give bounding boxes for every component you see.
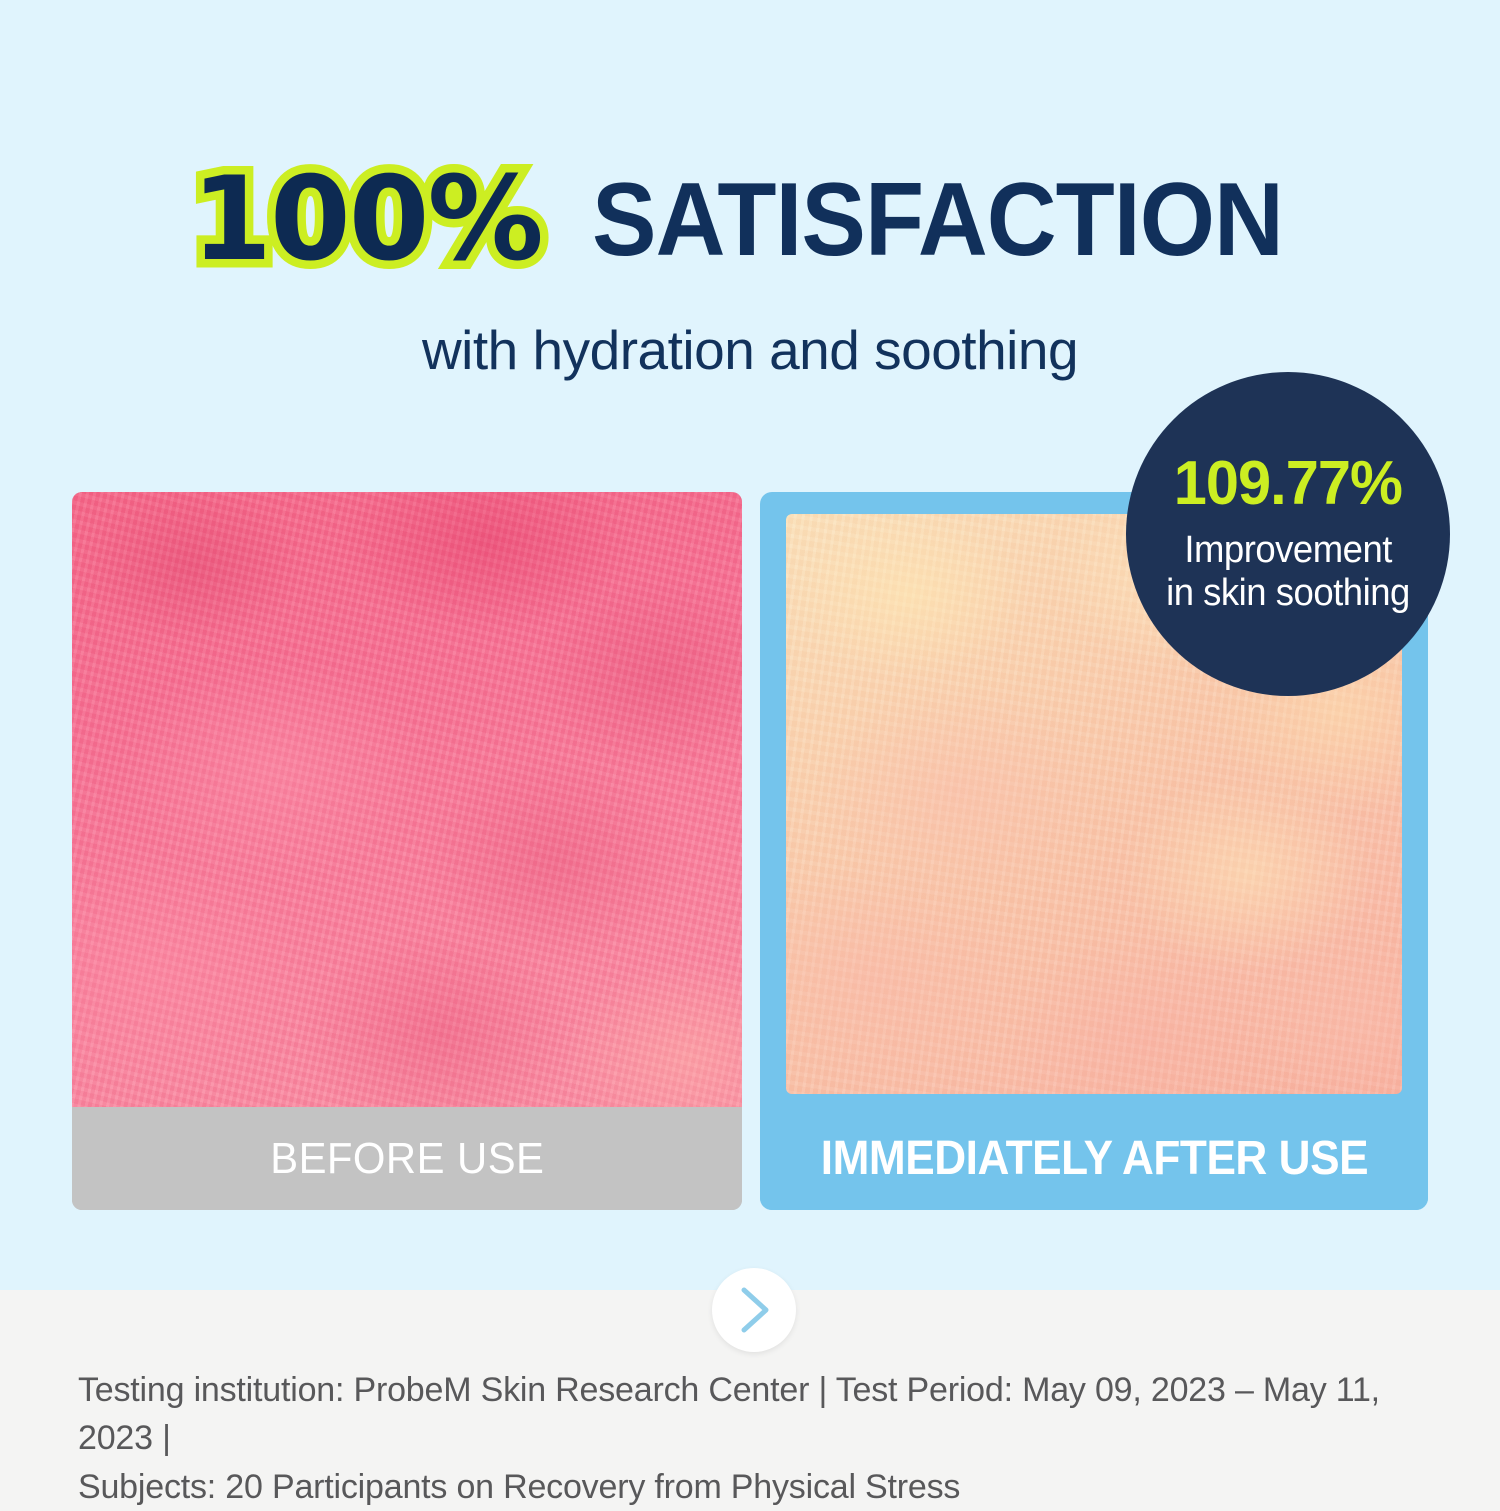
footer-text: Testing institution: ProbeM Skin Researc… [78,1366,1428,1511]
footer-line-1: Testing institution: ProbeM Skin Researc… [78,1366,1428,1463]
chevron-right-icon [712,1268,796,1352]
after-label-text: IMMEDIATELY AFTER USE [820,1131,1367,1186]
badge-caption-line-1: Improvement [1184,529,1392,572]
hero-stage: 100%SATISFACTION with hydration and soot… [0,0,1500,1290]
headline-percent: 100% [191,152,541,287]
improvement-badge: 109.77% Improvement in skin soothing [1126,372,1450,696]
before-label-bar: BEFORE USE [72,1107,742,1210]
headline-word: SATISFACTION [592,168,1283,272]
after-label-bar: IMMEDIATELY AFTER USE [760,1107,1428,1210]
footer-line-2: Subjects: 20 Participants on Recovery fr… [78,1463,1428,1511]
before-label-text: BEFORE USE [270,1134,544,1184]
before-card: BEFORE USE [72,492,742,1210]
page-title: 100%SATISFACTION [0,162,1500,278]
badge-value: 109.77% [1174,453,1402,515]
badge-caption-line-2: in skin soothing [1166,572,1410,615]
before-skin-image [72,492,742,1107]
